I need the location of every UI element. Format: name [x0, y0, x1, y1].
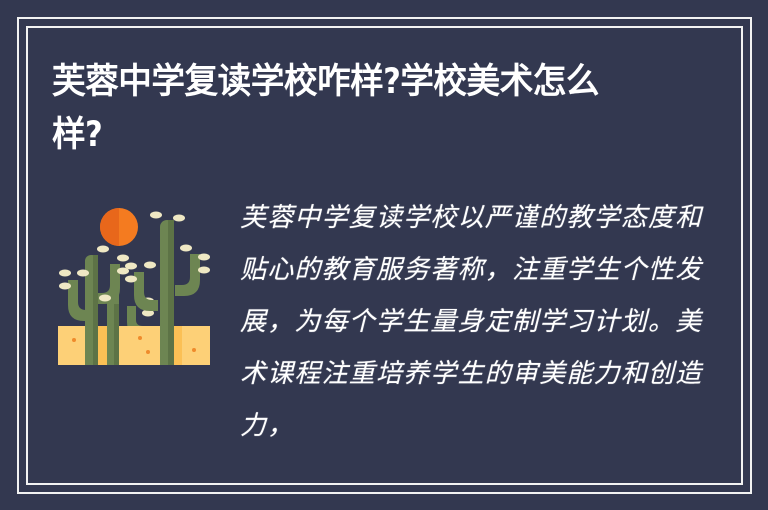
poster-canvas: 芙蓉中学复读学校咋样?学校美术怎么样? — [0, 0, 768, 510]
illustration-container — [52, 192, 220, 370]
desert-cactus-icon — [52, 200, 220, 370]
sand-ground — [58, 326, 210, 365]
article-body-text: 芙蓉中学复读学校以严谨的教学态度和贴心的教育服务著称，注重学生个性发展，为每个学… — [240, 192, 716, 452]
content-row: 芙蓉中学复读学校以严谨的教学态度和贴心的教育服务著称，注重学生个性发展，为每个学… — [52, 192, 716, 452]
sun-icon — [100, 208, 138, 246]
page-title: 芙蓉中学复读学校咋样?学校美术怎么样? — [52, 56, 628, 162]
